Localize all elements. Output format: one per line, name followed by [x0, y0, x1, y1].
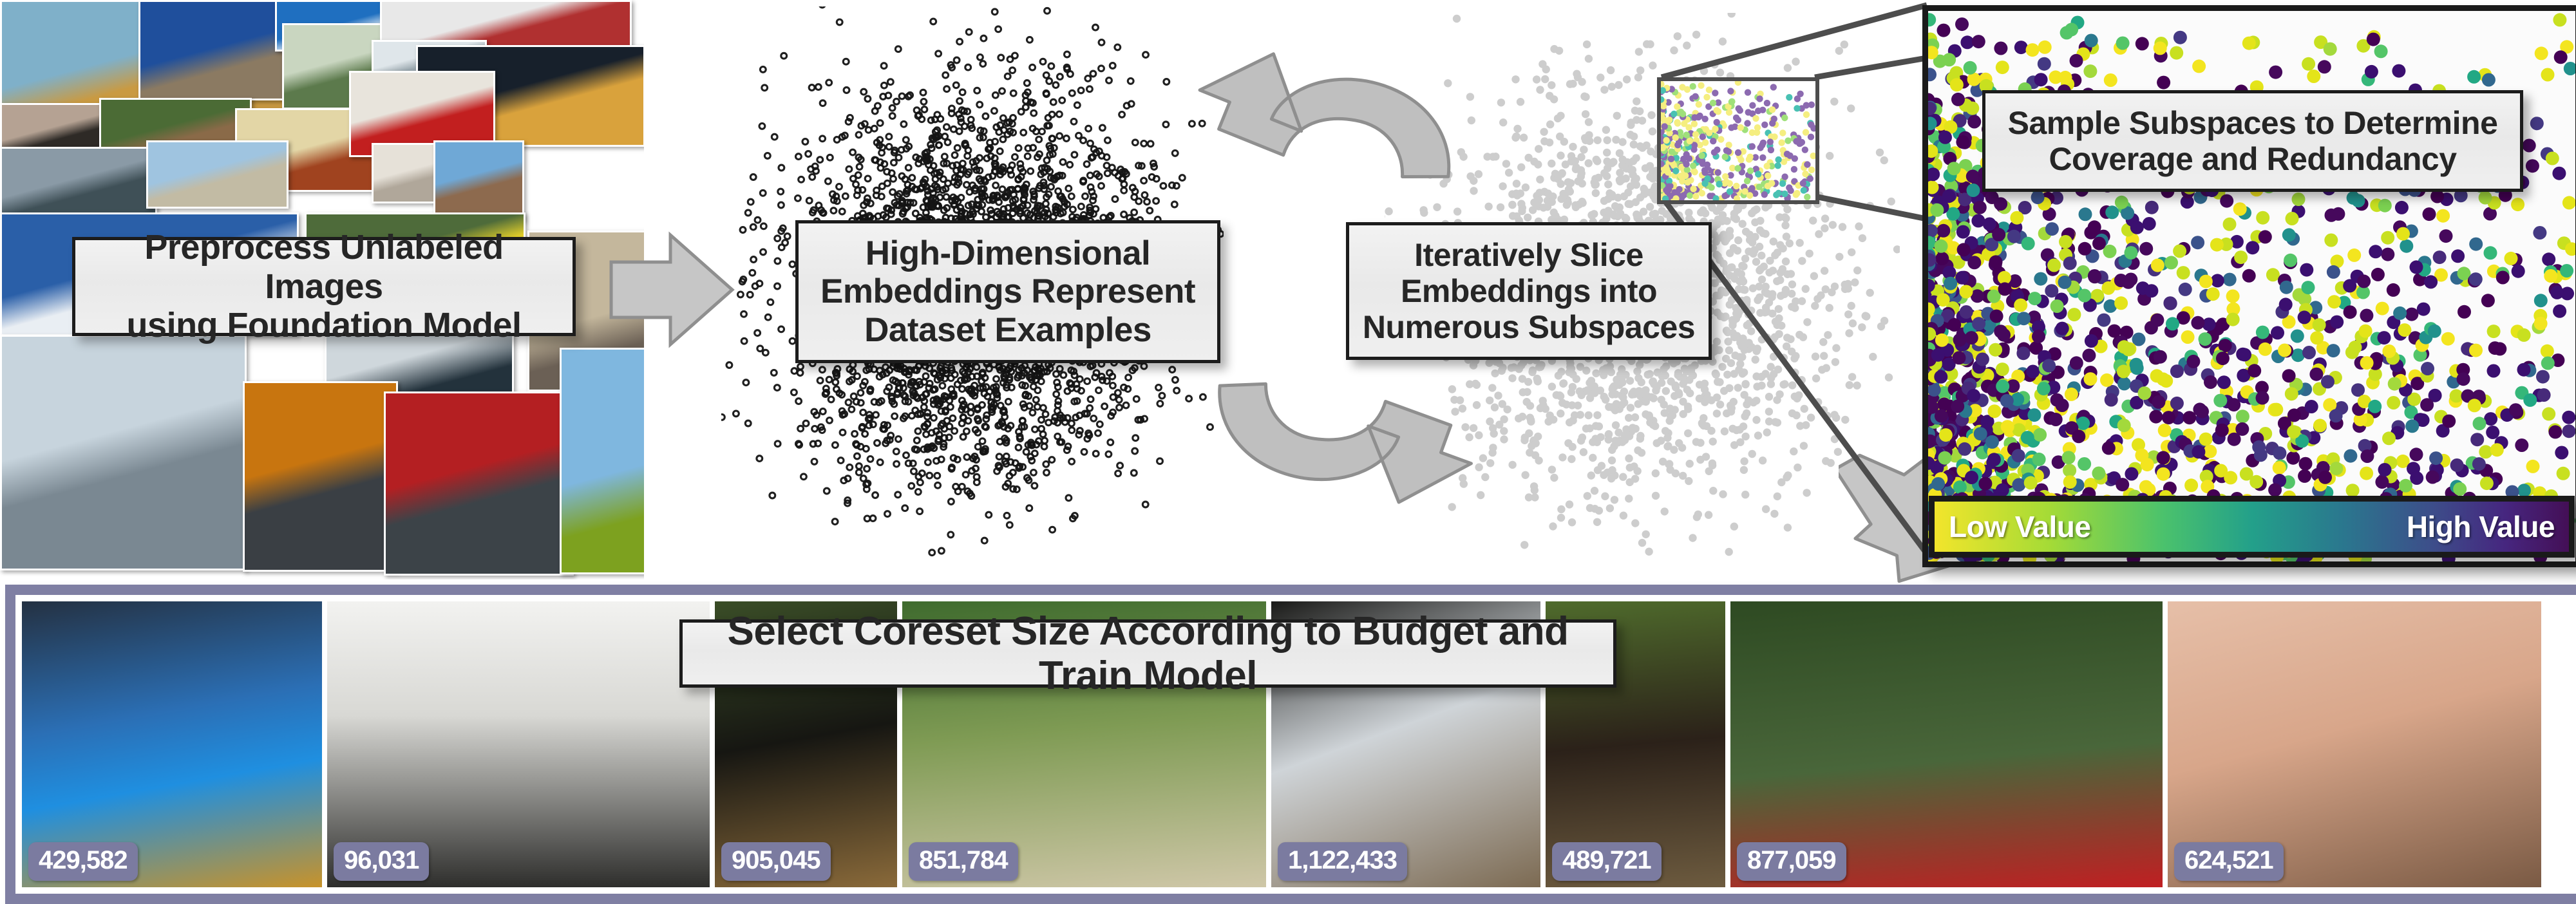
coreset-count-badge: 905,045 [721, 842, 831, 881]
subspace-inset-box [1657, 77, 1819, 204]
sample-callout: Sample Subspaces to Determine Coverage a… [1982, 90, 2523, 192]
coreset-count-badge: 429,582 [28, 842, 138, 881]
collage-photo-terraces [560, 348, 644, 574]
coreset-count-badge: 851,784 [909, 842, 1018, 881]
coreset-item-redcar[interactable]: 877,059 [1730, 601, 2163, 887]
coreset-count-badge: 877,059 [1737, 842, 1846, 881]
embeddings-callout: High-Dimensional Embeddings Represent Da… [795, 220, 1220, 363]
collage-photo-redbus [384, 391, 573, 576]
collage-photo-tram [243, 381, 398, 572]
colorbar-low-label: Low Value [1935, 509, 2105, 544]
slice-callout: Iteratively Slice Embeddings into Numero… [1346, 222, 1712, 360]
coreset-item-bee[interactable]: 624,521 [2168, 601, 2541, 887]
slice-callout-text: Iteratively Slice Embeddings into Numero… [1354, 237, 1704, 345]
inset-scatter [1661, 81, 1815, 200]
cycle-arrow-bottom [1191, 341, 1475, 554]
coreset-count-badge: 489,721 [1552, 842, 1662, 881]
cycle-arrow-top [1195, 10, 1472, 216]
coreset-count-badge: 96,031 [334, 842, 429, 881]
coreset-item-fountain[interactable]: 429,582 [22, 601, 322, 887]
preprocess-callout-text: Preprocess Unlabeled Images using Founda… [75, 228, 573, 344]
figure-root: Low Value High Value Preprocess Unlabele… [0, 0, 2576, 889]
collage-photo-churchtower [433, 140, 524, 221]
coreset-count-badge: 624,521 [2174, 842, 2284, 881]
collage-to-cloud-arrow [609, 229, 737, 351]
coreset-callout: Select Coreset Size According to Budget … [679, 619, 1616, 688]
subspace-scatter-panel [1922, 5, 2576, 567]
coreset-item-farmhouse[interactable]: 96,031 [327, 601, 710, 887]
coreset-callout-text: Select Coreset Size According to Budget … [683, 609, 1613, 699]
collage-photo-snowroad [0, 335, 247, 570]
coreset-count-badge: 1,122,433 [1278, 842, 1407, 881]
embeddings-callout-text: High-Dimensional Embeddings Represent Da… [811, 234, 1204, 349]
sample-callout-text: Sample Subspaces to Determine Coverage a… [1999, 105, 2507, 177]
collage-photo-village [146, 140, 289, 209]
value-colorbar-legend: Low Value High Value [1929, 496, 2575, 558]
colorbar-high-label: High Value [2392, 509, 2569, 544]
preprocess-callout: Preprocess Unlabeled Images using Founda… [72, 237, 576, 336]
